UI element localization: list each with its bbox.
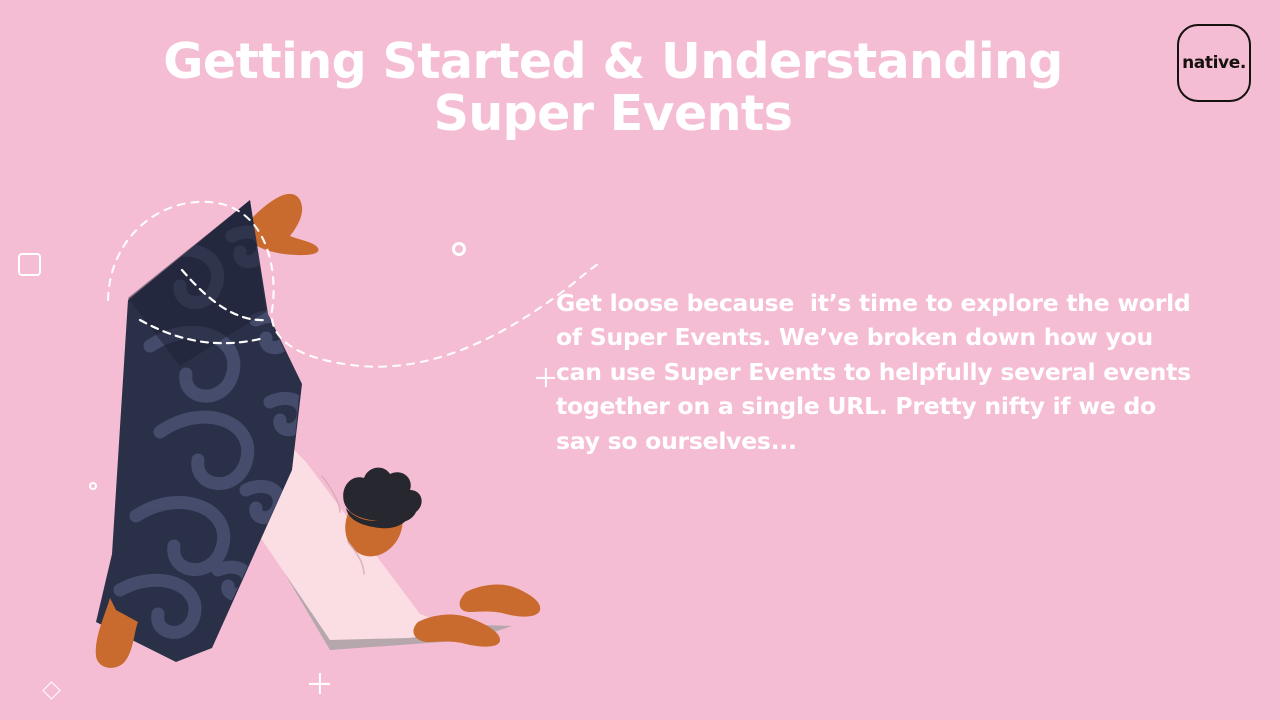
slide-canvas: Getting Started & Understanding Super Ev… (0, 0, 1280, 720)
page-title: Getting Started & Understanding Super Ev… (128, 36, 1098, 140)
ring-large-icon (452, 242, 466, 256)
illustration-standing-foot (96, 598, 138, 668)
illustration-top-shadow (246, 418, 512, 650)
body-paragraph: Get loose because it’s time to explore t… (556, 286, 1196, 458)
native-logo[interactable]: native. (1177, 24, 1251, 102)
illustration-head (336, 468, 422, 565)
illustration-fold-lines (322, 476, 364, 574)
dashed-curve-decoration (100, 190, 600, 380)
illustration-top (210, 398, 470, 640)
ring-small-icon (89, 482, 97, 490)
diamond-outline-icon (42, 681, 60, 699)
illustration-hands (413, 585, 540, 647)
plus-mark-left-icon (536, 368, 555, 387)
plus-mark-bottom-icon (309, 673, 330, 694)
square-outline-icon (18, 253, 41, 276)
logo-wordmark: native. (1182, 55, 1246, 72)
